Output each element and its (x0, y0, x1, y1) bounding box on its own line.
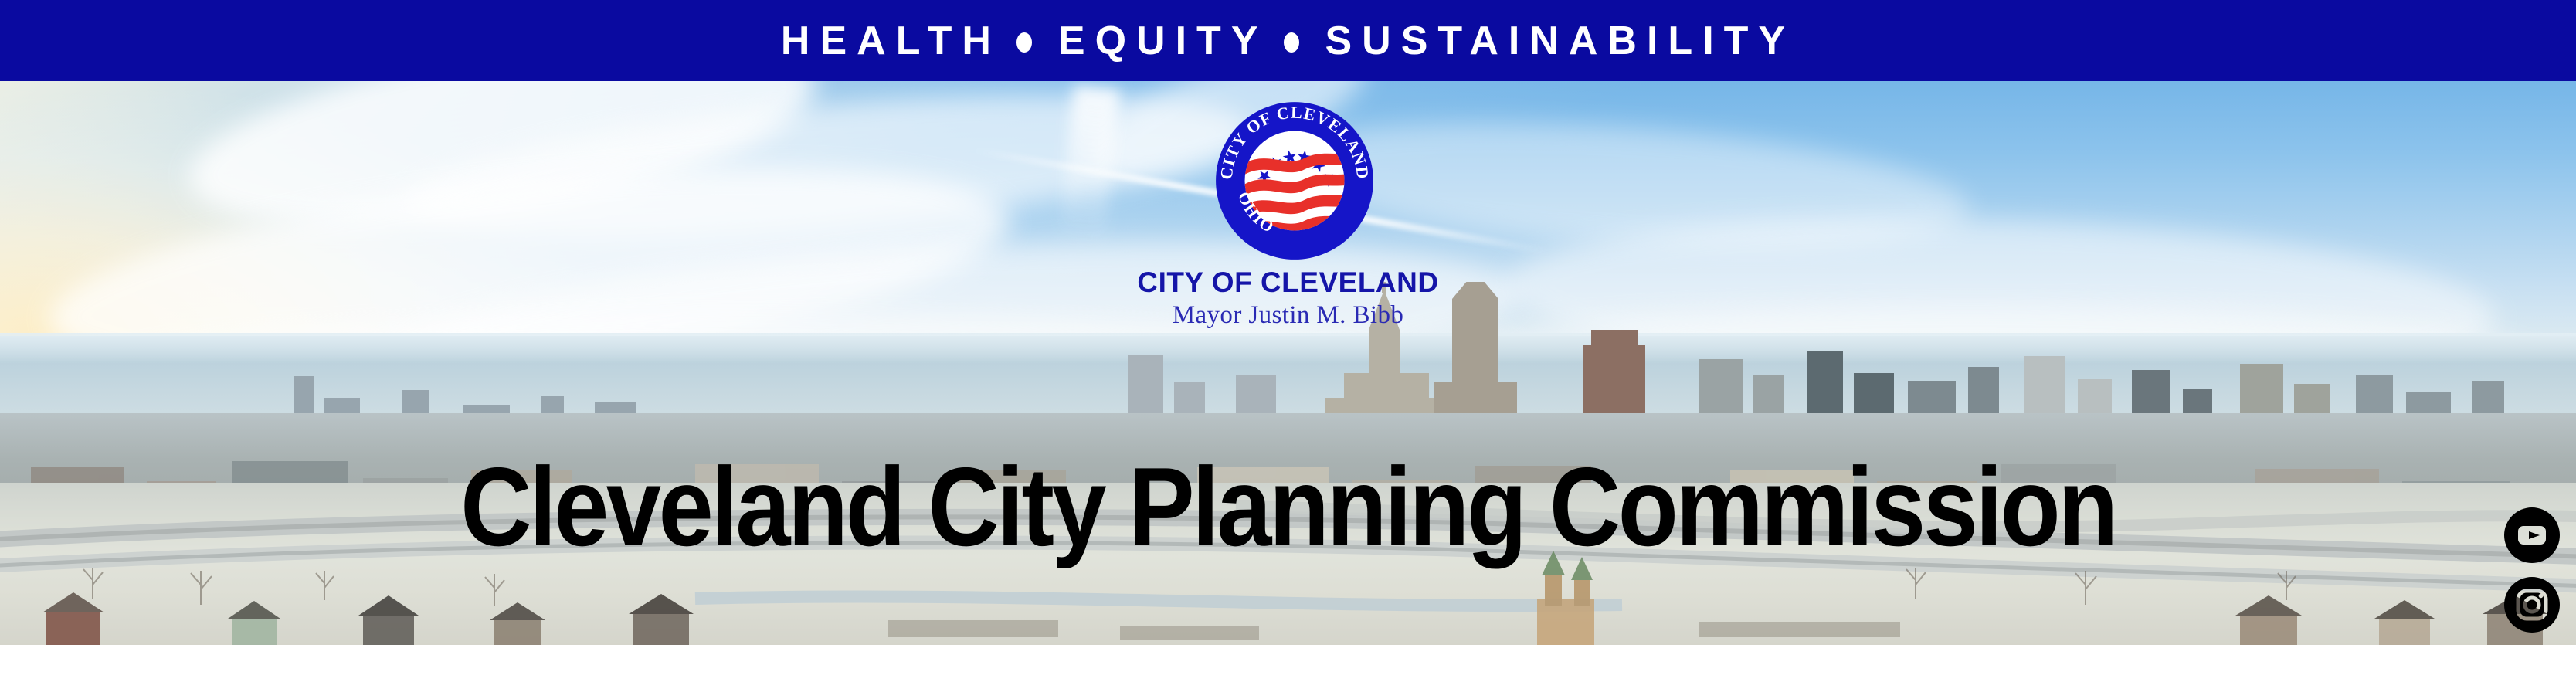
hero-photo: CITY OF CLEVELAND OHIO CITY OF CLEVELAND… (0, 81, 2576, 645)
social-media-rail (2504, 507, 2563, 645)
page-title: Cleveland City Planning Commission (0, 452, 2576, 564)
bottom-white-strip (0, 645, 2576, 682)
tagline-item-sustainability: SUSTAINABILITY (1325, 19, 1796, 63)
tagline-separator-dot-1 (1016, 32, 1032, 53)
tagline-item-equity: EQUITY (1058, 19, 1268, 63)
tagline-text: HEALTHEQUITYSUSTAINABILITY (781, 21, 1795, 61)
tagline-item-health: HEALTH (781, 19, 1001, 63)
page-root: HEALTHEQUITYSUSTAINABILITY (0, 0, 2576, 682)
logo-caption: CITY OF CLEVELAND Mayor Justin M. Bibb (0, 266, 2576, 331)
youtube-icon[interactable] (2504, 507, 2560, 563)
city-name-text: CITY OF CLEVELAND (0, 266, 2576, 298)
instagram-icon[interactable] (2504, 577, 2560, 633)
city-of-cleveland-seal: CITY OF CLEVELAND OHIO (1214, 100, 1375, 261)
mayor-name-text: Mayor Justin M. Bibb (0, 300, 2576, 331)
tagline-banner: HEALTHEQUITYSUSTAINABILITY (0, 0, 2576, 81)
tagline-separator-dot-2 (1284, 32, 1299, 53)
